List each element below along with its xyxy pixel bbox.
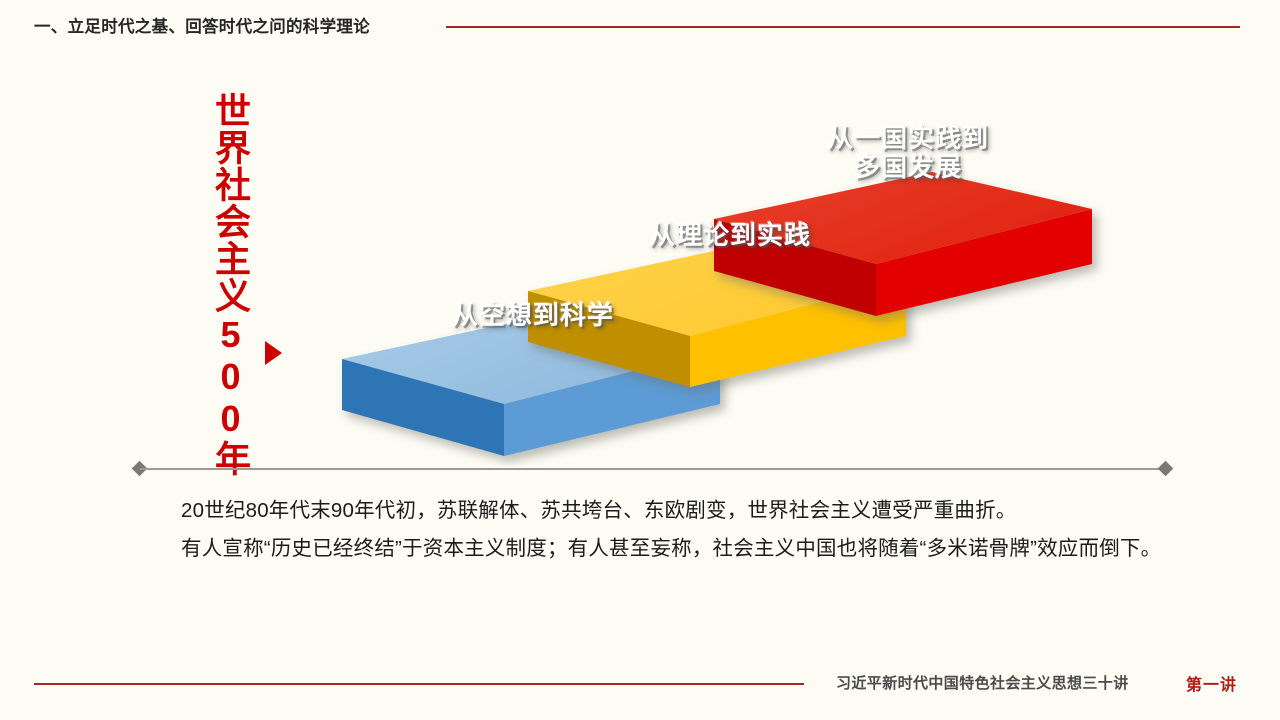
footer-series-title: 习近平新时代中国特色社会主义思想三十讲 [836, 672, 1129, 693]
slide-header: 一、立足时代之基、回答时代之问的科学理论 [0, 0, 1280, 46]
body-text-block: 20世纪80年代末90年代初，苏联解体、苏共垮台、东欧剧变，世界社会主义遭受严重… [140, 492, 1180, 568]
steps-diagram-graphic [0, 46, 1280, 466]
body-paragraph-1: 20世纪80年代末90年代初，苏联解体、苏共垮台、东欧剧变，世界社会主义遭受严重… [140, 492, 1180, 530]
step-label-yellow: 从理论到实践 [615, 221, 845, 250]
step-label-red: 从一国实践到 多国发展 [793, 124, 1023, 182]
footer-lecture-badge: 第一讲 [1186, 671, 1237, 695]
step-label-blue: 从空想到科学 [418, 301, 648, 330]
body-paragraph-2: 有人宣称“历史已经终结”于资本主义制度；有人甚至妄称，社会主义中国也将随着“多米… [140, 530, 1180, 568]
content-divider [134, 463, 1170, 475]
diagram-stage: 世界社会主义500年 [0, 46, 1280, 466]
header-divider-rule [446, 26, 1240, 28]
page-title: 一、立足时代之基、回答时代之问的科学理论 [34, 13, 370, 37]
divider-line [140, 468, 1164, 470]
slide-footer: 习近平新时代中国特色社会主义思想三十讲 第一讲 [0, 672, 1280, 706]
footer-divider-rule [34, 683, 804, 685]
